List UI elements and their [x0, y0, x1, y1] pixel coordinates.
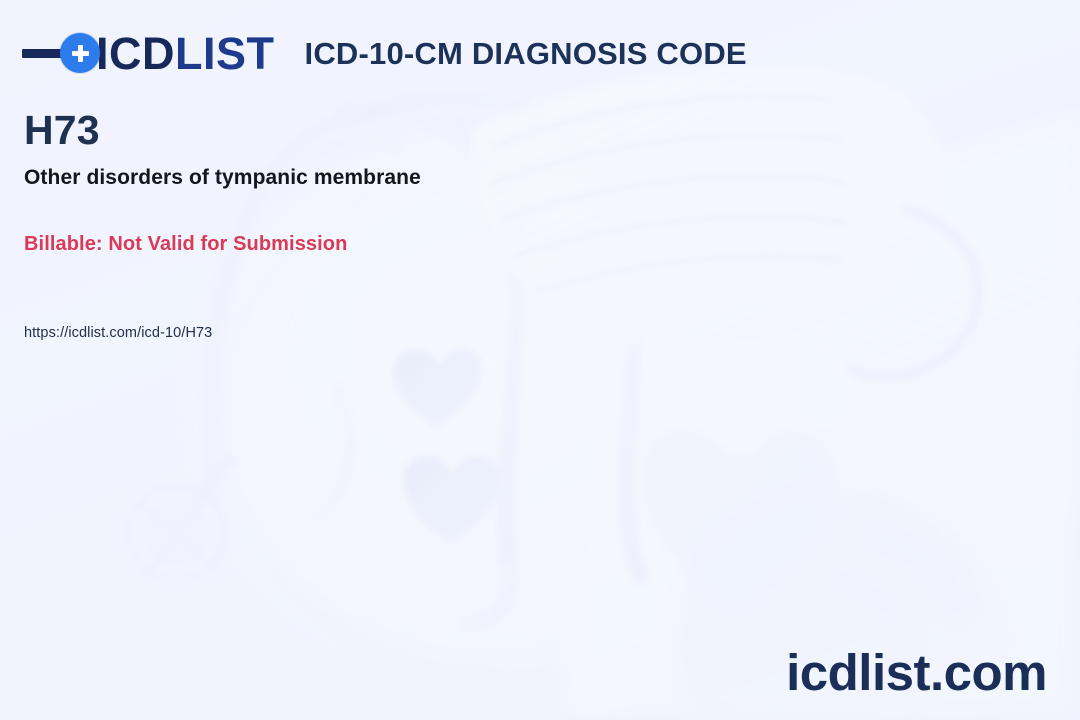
logo-text-list: LIST [175, 28, 275, 79]
page-title: ICD-10-CM DIAGNOSIS CODE [305, 38, 747, 69]
heart-shape-large [404, 456, 501, 544]
logo-wordmark: ICDLIST [96, 31, 275, 76]
page-header: ICDLIST ICD-10-CM DIAGNOSIS CODE [22, 24, 1058, 82]
icdlist-logo[interactable]: ICDLIST [22, 29, 275, 77]
diagnosis-description: Other disorders of tympanic membrane [24, 165, 764, 191]
source-url[interactable]: https://icdlist.com/icd-10/H73 [24, 324, 764, 343]
site-brand: icdlist.com [786, 647, 1047, 698]
icd-code-card: ICDLIST ICD-10-CM DIAGNOSIS CODE H73 Oth… [0, 0, 1080, 720]
billable-status-badge: Billable: Not Valid for Submission [24, 232, 764, 257]
code-details: H73 Other disorders of tympanic membrane… [24, 108, 764, 342]
heart-shape-held [642, 429, 837, 616]
stethoscope-chestpiece [125, 458, 232, 584]
mask-ear-loop [852, 210, 979, 377]
plus-circle-icon [60, 33, 100, 73]
diagnosis-code: H73 [24, 108, 764, 152]
heart-shape-small [394, 349, 483, 428]
logo-text-icd: ICD [96, 28, 175, 79]
